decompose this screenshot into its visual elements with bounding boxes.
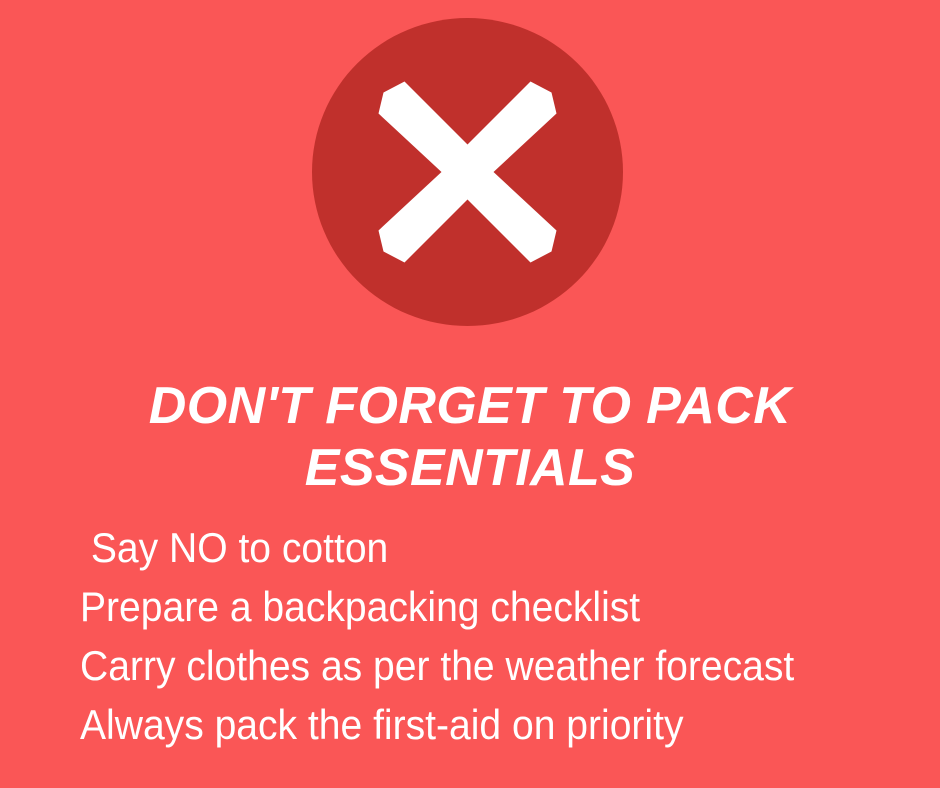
tips-list: Say NO to cotton Prepare a backpacking c… [80,518,900,754]
x-mark-in-circle-svg [312,18,623,326]
list-item: Always pack the first-aid on priority [80,695,843,754]
list-item: Say NO to cotton [80,518,843,577]
list-item: Prepare a backpacking checklist [80,577,843,636]
x-mark-in-circle-icon [312,18,623,326]
poster-canvas: DON'T FORGET TO PACK ESSENTIALS Say NO t… [0,0,940,788]
list-item: Carry clothes as per the weather forecas… [80,636,843,695]
page-title: DON'T FORGET TO PACK ESSENTIALS [0,375,940,499]
